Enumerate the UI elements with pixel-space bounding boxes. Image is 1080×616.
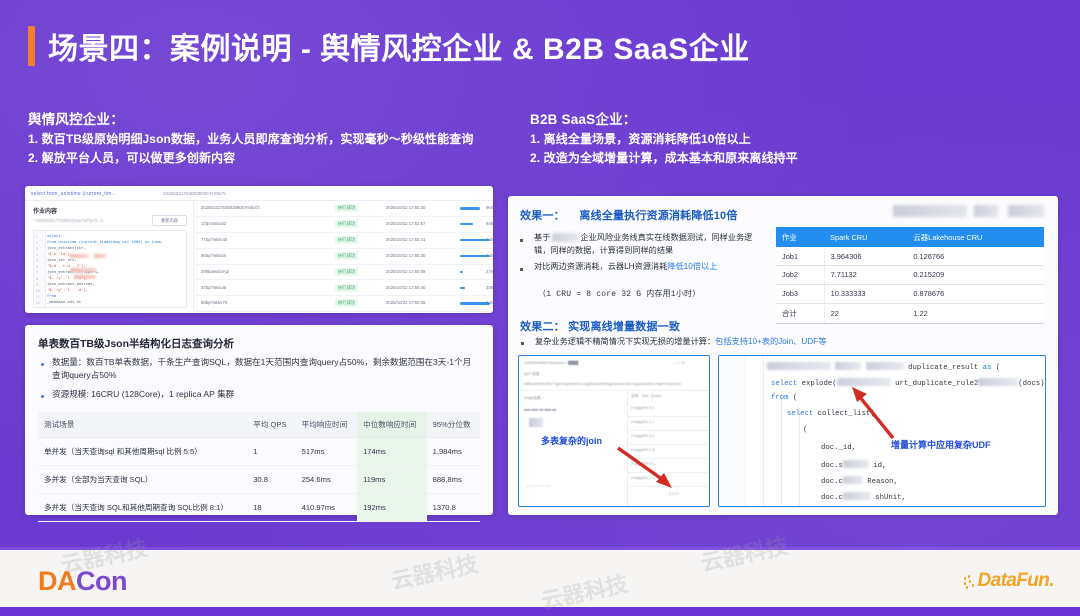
sql-line-1: duplicate_result as ( [767,362,1000,372]
code-line-text: json_extract_entries, [47,283,95,287]
performance-table: 测试场景平均 QPS平均响应时间中位数响应时间95%分位数 单并发（当天查询sq… [38,412,480,522]
sql-line-6: doc._id, [821,444,856,452]
code-line-number: 4 [36,253,38,257]
effect-one-heading: 效果一： 离线全量执行资源消耗降低10倍 [520,207,738,223]
code-line-text: from [47,295,56,299]
cell-duration-bar [460,287,465,290]
table-cell: 22 [824,303,907,324]
column-header: 95%分位数 [427,412,480,438]
cell-duration: 1.2s [486,300,493,305]
bullet-square-icon [521,342,524,345]
bullet-2-highlight: 降低10倍以上 [667,262,717,271]
table-cell: 18 [247,494,295,522]
code-line-text: from_unixtime (current_timestamp div 100… [47,241,163,245]
effect-one-label: 效果一： [520,210,565,222]
table-cell: 1,984ms [427,438,480,466]
table-row[interactable]: 77bp7wtsiv40执行成功2025/10/22 17:52:411.0s0… [196,232,493,249]
code-line-text: '$.c .id'), [47,253,72,257]
annotation-udf: 增量计算中应用复杂UDF [891,438,991,451]
watermark: 云器科技 [698,528,791,578]
footer-bar: 云器科技 云器科技 云器科技 云器科技 [0,547,1080,607]
table-row: Job13.9643060.126766 [776,247,1044,265]
analysis-card: 单表数百TB级Json半结构化日志查询分析 数据量：数百TB单表数据，千条生产查… [25,325,493,515]
bullet-square-icon [520,268,523,271]
console-refresh-button[interactable]: 重新内容 [152,215,187,226]
annotation-join: 多表复杂的join [541,434,602,447]
effect-two-label: 效果二： [520,321,565,333]
cell-duration: 545ms [486,221,493,226]
redacted-logo [1008,205,1044,217]
console-query-text: select from_unixtime (current_tim... [31,191,116,197]
mini-divider [519,390,709,391]
cell-status: 执行成功 [335,220,358,228]
sql-gutter [719,356,746,506]
column-header: Spark CRU [824,227,907,247]
cell-status: 执行成功 [335,284,358,292]
code-line-number: 2 [36,241,38,245]
bullet-2-prefix: 对比两边资源消耗，云器LH资源消耗 [534,262,667,271]
sql-indent-guide [763,356,764,506]
datafun-dots-icon [964,575,976,587]
column-header: 平均响应时间 [296,412,357,438]
mini-tabs: 运行 结果 [524,372,539,377]
results-panel: 效果一： 离线全量执行资源消耗降低10倍 基于企业风险业务线真实在线数据测试，同… [508,196,1058,515]
console-panel-title: 作业内容 [33,206,57,215]
table-cell: 单并发（当天查询sql 和其他周期sql 比例 5:5） [38,438,247,466]
cell-duration: 1.0s [486,237,493,242]
column-header: 云器Lakehouse CRU [907,227,1044,247]
table-cell: 1 [247,438,295,466]
cell-job-id: 20250221753003890b7HSbi7c [201,205,260,210]
arrow-to-join-icon [614,444,684,494]
code-line-number: 8 [36,277,38,281]
datafun-logo: DataFun. [964,570,1054,592]
cru-table-header: 作业Spark CRU云器Lakehouse CRU [776,227,1044,247]
arrow-to-udf-icon [847,382,907,444]
table-cell: 174ms [357,438,427,466]
effect-two-bullet: 复杂业务逻辑不精简情况下实现无损的增量计算：包括支持10+表的Join、UDF等 [535,336,1035,349]
bullet-dot-icon [41,363,44,366]
redaction-block [70,268,96,272]
intro-left-line-1: 1. 数百TB级原始明细Json数据，业务人员即席查询分析，实现毫秒～秒级性能查… [28,131,498,148]
intro-right-block: B2B SaaS企业： 1. 离线全量场景，资源消耗降低10倍以上 2. 改造为… [530,108,980,170]
table-cell: Job3 [776,284,824,303]
table-row: 多并发（全部为当天查询 SQL）30.8254.6ms119ms888.8ms [38,466,480,494]
redacted-logo [893,205,967,217]
cell-status: 执行成功 [335,299,358,307]
performance-table-body: 单并发（当天查询sql 和其他周期sql 比例 5:5）1517ms174ms1… [38,438,480,522]
table-cell: 10.333333 [824,284,907,303]
cell-timestamp: 2025/10/22 17:50:30 [386,253,425,258]
table-row[interactable]: 1f3p7wtsiu02执行成功2025/10/22 17:52:57545ms… [196,216,493,233]
page-title: 场景四：案例说明 - 舆情风控企业 & B2B SaaS企业 [28,24,750,68]
code-line-number: 12 [36,301,40,305]
sql-line-5: ( [803,426,807,434]
code-line-number: 10 [36,289,40,293]
sql-line-9: doc.c shUnit, [821,492,906,502]
table-cell: 119ms [357,466,427,494]
table-row: 多并发（当天查询 SQL和其他周期查询 SQL比例 8:1）18410.97ms… [38,494,480,522]
cell-timestamp: 2025/10/22 17:50:30 [386,205,425,210]
console-vertical-divider [193,200,194,313]
redaction-block [70,254,88,258]
intro-left-heading: 舆情风控企业： [28,108,498,128]
mini-legend: ■■■ ■■■ ■■ ■■■ ■■ [524,408,556,412]
effect-two-heading: 效果二： 实现离线增量数据一致 [520,318,680,334]
cell-timestamp: 2025/10/22 17:50:40 [386,285,425,290]
mini-window-controls[interactable]: — □ ✕ [674,361,685,365]
console-result-table[interactable]: 20250221753003890b7HSbi7c执行成功2025/10/22 … [196,200,493,313]
query-console-screenshot: select from_unixtime (current_tim... 202… [25,186,493,313]
effect-two-bullet-highlight: 包括支持10+表的Join、UDF等 [715,337,826,346]
table-row[interactable]: 86bp7wtsiv70执行成功2025/10/22 17:50:351.2s0… [196,295,493,312]
console-code-editor[interactable]: 1select2 from_unixtime (current_timestam… [33,230,187,308]
console-request-id: 20250221753003890b7HSbi7c [163,191,226,196]
intro-left-line-2: 2. 解放平台人员，可以做更多创新内容 [28,150,498,167]
effect-two-bullet-prefix: 复杂业务逻辑不精简情况下实现无损的增量计算： [535,337,715,346]
cell-status: 执行成功 [335,204,358,212]
dacon-logo: DACon [38,566,127,597]
code-line-text: _webbase.ods_ot [47,301,81,305]
dacon-logo-con: Con [76,566,127,596]
sql-indent-guide [781,390,782,506]
cell-duration: 27ms [486,269,493,274]
cru-definition-note: （1 CRU = 8 core 32 G 内存用1小时） [538,288,700,299]
console-panel-subtitle: * 2026/03/17T53003S3a7sd7p7S -0 [33,218,103,223]
table-cell: 0.878676 [907,284,1044,303]
code-line-number: 9 [36,283,38,287]
mini-row-divider [627,416,709,417]
effect-two-title: 实现离线增量数据一致 [568,321,680,333]
code-line-text: json_str ers, [47,259,77,263]
column-header: 平均 QPS [247,412,295,438]
bullet-square-icon [520,239,523,242]
analysis-bullet-1: 数据量：数百TB单表数据，千条生产查询SQL，数据在1天范围内查询query占5… [52,356,476,382]
bullet-dot-icon [41,395,44,398]
table-cell: 254.6ms [296,466,357,494]
table-cell: 517ms [296,438,357,466]
redaction-block [94,254,106,258]
cell-timestamp: 2025/10/22 17:52:57 [386,221,425,226]
sql-line-2: select explode( urt_duplicate_rule2(docs… [771,378,1046,388]
cell-job-id: 965p7wtsiv0i [201,253,226,258]
intro-right-heading: B2B SaaS企业： [530,108,980,128]
watermark: 云器科技 [538,566,631,616]
table-row: Job27.711320.215209 [776,265,1044,284]
table-cell: 0.215209 [907,265,1044,284]
table-cell: 192ms [357,494,427,522]
intro-right-line-1: 1. 离线全量场景，资源消耗降低10倍以上 [530,131,980,148]
cell-status: 执行成功 [335,268,358,276]
cell-timestamp: 2025/10/22 17:50:35 [386,300,425,305]
datafun-logo-text: DataFun. [978,570,1054,592]
cru-comparison-table: 作业Spark CRU云器Lakehouse CRU Job13.9643060… [776,227,1044,324]
column-header: 测试场景 [38,412,247,438]
sql-line-7: doc.s id, [821,460,886,470]
table-cell: 1.22 [907,303,1044,324]
table-cell: 多并发（全部为当天查询 SQL） [38,466,247,494]
mini-chart-label: Stage结果 ○ [524,396,544,401]
slide-root: 场景四：案例说明 - 舆情风控企业 & B2B SaaS企业 舆情风控企业： 1… [0,0,1080,607]
mini-node [529,418,543,427]
sql-line-8: doc.c Reason, [821,476,898,486]
cell-timestamp: 2025/10/22 17:52:41 [386,237,425,242]
table-cell: 1370.8 [427,494,480,522]
table-row[interactable]: 20250221753003890b7HSbi7c执行成功2025/10/22 … [196,200,493,217]
table-cell: 0.126766 [907,247,1044,265]
cell-duration-bar [460,223,473,226]
table-cell: 合计 [776,303,824,324]
cell-job-id: 29f6pawsi2Aj2 [201,269,229,274]
cell-job-id: 86bp7wtsiv70 [201,300,227,305]
table-cell: 888.8ms [427,466,480,494]
code-line-number: 6 [36,265,38,269]
cell-duration-bar [460,207,480,210]
mini-footer: ⌐ ⌐ ⌐ ⌐ ⌐ ⌐ ⌐ ⌐ [527,484,551,488]
sql-screenshot: duplicate_result as ( select explode( ur… [718,355,1046,507]
table-row[interactable]: 965p7wtsiv0i执行成功2025/10/22 17:50:301.0s0… [196,248,493,265]
table-cell: 多并发（当天查询 SQL和其他周期查询 SQL比例 8:1） [38,494,247,522]
redacted-word [552,233,578,242]
table-row: Job310.3333330.878676 [776,284,1044,303]
mini-col-headers: 名称 Task Queue [631,394,661,399]
analysis-bullet-2: 资源规模: 16CRU (128Core)，1 replica AP 集群 [52,388,476,401]
table-cell: 30.8 [247,466,295,494]
cell-status: 执行成功 [335,236,358,244]
title-accent-bar [28,26,35,66]
table-row: 合计221.22 [776,303,1044,324]
mini-sub: 98Bsswtn9nv2407 bgw1traptcwnOv wqq3balzs… [524,382,681,386]
performance-table-header: 测试场景平均 QPS平均响应时间中位数响应时间95%分位数 [38,412,480,438]
table-cell: 3.964306 [824,247,907,265]
mini-table-row: 4 stage5% 4 3 [631,406,654,410]
intro-right-line-2: 2. 改造为全域增量计算，成本基本和原来离线持平 [530,150,980,167]
intro-left-block: 舆情风控企业： 1. 数百TB级原始明细Json数据，业务人员即席查询分析，实现… [28,108,498,170]
effect-one-title: 离线全量执行资源消耗降低10倍 [579,210,737,222]
sql-indent-guide [799,408,800,506]
mini-table-row: 4 stage6% 1 1 [631,420,654,424]
code-line-text: '$. /y'.'l . -d'), [47,289,88,293]
mini-header: 20263046980274trwduwv / ████ [524,361,578,365]
sql-line-3: from ( [771,394,797,402]
cell-duration: 1.0s [486,253,493,258]
mini-table-row: 4 stage8% 4 1 [631,434,654,438]
cell-duration: 336ms [486,285,493,290]
code-line-number: 1 [36,235,38,239]
cell-job-id: 57bp7wtsiuar [201,285,227,290]
cell-job-id: 77bp7wtsiv40 [201,237,227,242]
column-header: 作业 [776,227,824,247]
cell-duration: 964ms [486,205,493,210]
code-line-number: 11 [36,295,40,299]
column-header: 中位数响应时间 [357,412,427,438]
code-line-number: 7 [36,271,38,275]
mini-row-divider [627,430,709,431]
cell-status: 执行成功 [335,252,358,260]
code-line-number: 5 [36,259,38,263]
redaction-block [74,275,96,279]
title-text: 场景四：案例说明 - 舆情风控企业 & B2B SaaS企业 [48,24,750,68]
code-line-text: select [47,235,61,239]
table-cell: 7.71132 [824,265,907,284]
cell-timestamp: 2025/10/22 17:50:09 [386,269,425,274]
table-cell: Job2 [776,265,824,284]
analysis-heading: 单表数百TB级Json半结构化日志查询分析 [38,336,234,351]
effect-one-bullet-1: 基于企业风险业务线真实在线数据测试，同样业务逻辑，同样的数据，计算得到同样的结果 [534,232,756,257]
cell-job-id: 1f3p7wtsiu02 [201,221,226,226]
code-line-number: 3 [36,247,38,251]
table-row[interactable]: 57bp7wtsiuar执行成功2025/10/22 17:50:40336ms… [196,280,493,297]
dacon-logo-da: DA [38,566,76,596]
cru-table-body: Job13.9643060.126766Job27.711320.215209J… [776,247,1044,324]
watermark: 云器科技 [388,546,481,596]
table-cell: Job1 [776,247,824,265]
join-screenshot: 20263046980274trwduwv / ████ 运行 结果 98Bss… [518,355,710,507]
code-line-text: json_extract(str, [47,247,86,251]
cell-duration-bar [460,271,463,274]
table-cell: 410.97ms [296,494,357,522]
table-row[interactable]: 29f6pawsi2Aj2执行成功2025/10/22 17:50:0927ms… [196,264,493,281]
redacted-logo [974,205,998,217]
effect-one-bullet-2: 对比两边资源消耗，云器LH资源消耗降低10倍以上 [534,261,764,274]
table-row: 单并发（当天查询sql 和其他周期sql 比例 5:5）1517ms174ms1… [38,438,480,466]
